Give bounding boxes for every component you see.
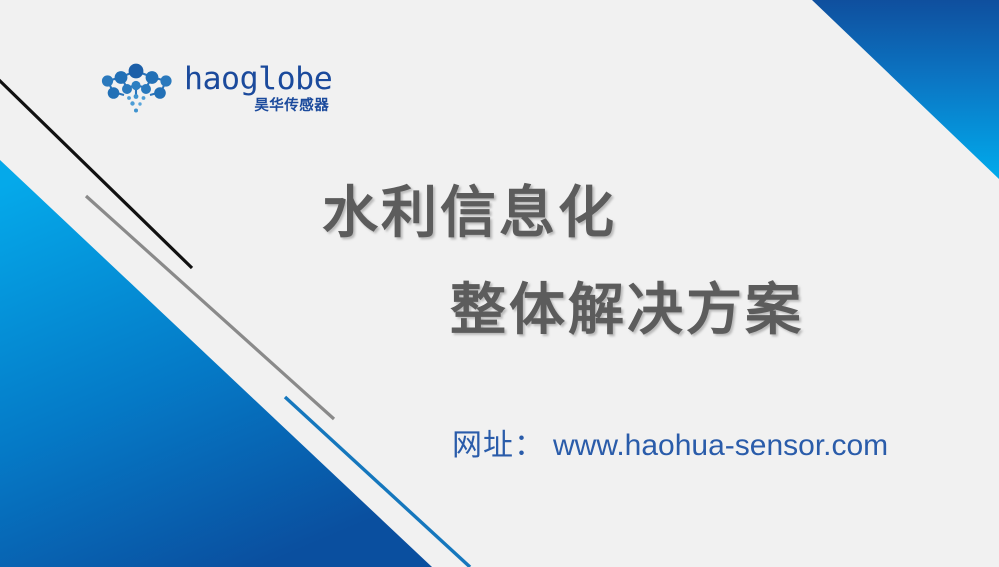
logo-wordmark: haoglobe xyxy=(184,64,332,95)
blue-diagonal-line xyxy=(285,397,470,567)
logo-chinese-name: 昊华传感器 xyxy=(254,99,329,114)
website-row: 网址： www.haohua-sensor.com xyxy=(452,420,888,464)
website-label: 网址： xyxy=(452,420,545,464)
network-dots-logo-icon xyxy=(96,61,178,117)
website-url[interactable]: www.haohua-sensor.com xyxy=(553,429,888,463)
top-right-triangle xyxy=(812,0,999,179)
gray-diagonal-line xyxy=(86,196,334,419)
presentation-slide: haoglobe 昊华传感器 水利信息化 整体解决方案 网址： www.haoh… xyxy=(0,0,999,567)
page-title-line-1: 水利信息化 xyxy=(322,168,617,249)
page-title-line-2: 整体解决方案 xyxy=(450,265,804,346)
company-logo: haoglobe 昊华传感器 xyxy=(96,58,326,120)
